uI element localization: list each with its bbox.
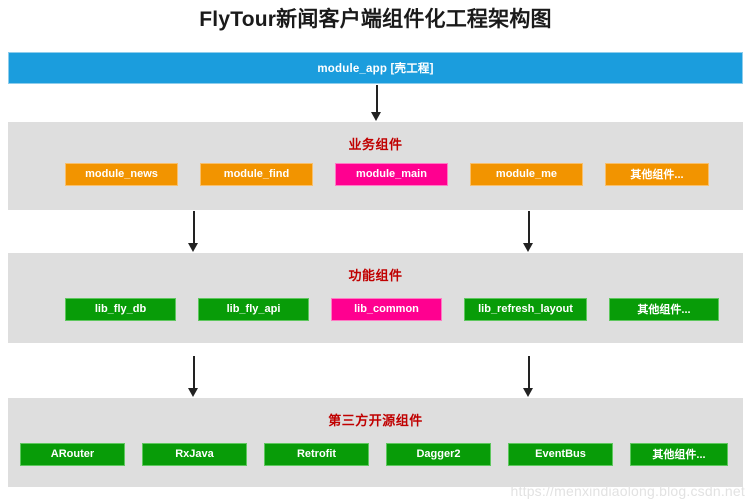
component-module-main[interactable]: module_main	[335, 163, 448, 186]
component-label: module_main	[356, 168, 427, 180]
component-label: lib_refresh_layout	[478, 303, 573, 315]
section-business-components: 业务组件 module_news module_find module_main…	[8, 122, 743, 210]
component-rxjava[interactable]: RxJava	[142, 443, 247, 466]
arrow-head	[371, 112, 381, 121]
module-app-shell-label: module_app [壳工程]	[317, 60, 433, 76]
component-label: 其他组件...	[652, 446, 705, 462]
component-lib-fly-api[interactable]: lib_fly_api	[198, 298, 309, 321]
component-retrofit[interactable]: Retrofit	[264, 443, 369, 466]
arrow-shaft	[528, 356, 530, 389]
module-app-shell-box: module_app [壳工程]	[8, 52, 743, 84]
arrow-business-to-function-right	[523, 211, 534, 253]
section-functional-components: 功能组件 lib_fly_db lib_fly_api lib_common l…	[8, 253, 743, 343]
component-label: module_find	[224, 168, 289, 180]
component-lib-common[interactable]: lib_common	[331, 298, 442, 321]
arrow-head	[523, 388, 533, 397]
component-business-other[interactable]: 其他组件...	[605, 163, 709, 186]
component-label: Retrofit	[297, 448, 336, 460]
component-third-party-other[interactable]: 其他组件...	[630, 443, 728, 466]
component-label: RxJava	[175, 448, 214, 460]
architecture-diagram: FlyTour新闻客户端组件化工程架构图 module_app [壳工程] 业务…	[0, 0, 751, 501]
component-lib-refresh-layout[interactable]: lib_refresh_layout	[464, 298, 587, 321]
component-module-news[interactable]: module_news	[65, 163, 178, 186]
page-title: FlyTour新闻客户端组件化工程架构图	[0, 6, 751, 34]
component-module-me[interactable]: module_me	[470, 163, 583, 186]
component-label: lib_fly_api	[227, 303, 281, 315]
component-label: Dagger2	[416, 448, 460, 460]
component-row-business: module_news module_find module_main modu…	[8, 162, 751, 186]
component-label: module_me	[496, 168, 557, 180]
component-label: 其他组件...	[637, 301, 690, 317]
section-title-business: 业务组件	[8, 134, 743, 153]
component-label: module_news	[85, 168, 158, 180]
arrow-shaft	[376, 85, 378, 113]
component-label: 其他组件...	[630, 166, 683, 182]
component-dagger2[interactable]: Dagger2	[386, 443, 491, 466]
arrow-function-to-third-left	[188, 356, 199, 398]
arrow-shaft	[193, 211, 195, 244]
section-third-party-components: 第三方开源组件 ARouter RxJava Retrofit Dagger2 …	[8, 398, 743, 487]
section-title-function: 功能组件	[8, 265, 743, 284]
component-label: lib_fly_db	[95, 303, 146, 315]
component-eventbus[interactable]: EventBus	[508, 443, 613, 466]
component-lib-fly-db[interactable]: lib_fly_db	[65, 298, 176, 321]
component-label: ARouter	[51, 448, 94, 460]
arrow-head	[188, 243, 198, 252]
component-arouter[interactable]: ARouter	[20, 443, 125, 466]
arrow-business-to-function-left	[188, 211, 199, 253]
component-label: lib_common	[354, 303, 419, 315]
arrow-head	[188, 388, 198, 397]
arrow-shell-to-business	[371, 85, 382, 122]
arrow-function-to-third-right	[523, 356, 534, 398]
arrow-shaft	[528, 211, 530, 244]
component-row-function: lib_fly_db lib_fly_api lib_common lib_re…	[8, 297, 751, 321]
section-title-third-party: 第三方开源组件	[8, 410, 743, 429]
arrow-shaft	[193, 356, 195, 389]
component-label: EventBus	[535, 448, 586, 460]
watermark: https://menxindiaolong.blog.csdn.net	[511, 483, 745, 499]
component-function-other[interactable]: 其他组件...	[609, 298, 719, 321]
arrow-head	[523, 243, 533, 252]
component-module-find[interactable]: module_find	[200, 163, 313, 186]
component-row-third-party: ARouter RxJava Retrofit Dagger2 EventBus…	[8, 442, 751, 466]
